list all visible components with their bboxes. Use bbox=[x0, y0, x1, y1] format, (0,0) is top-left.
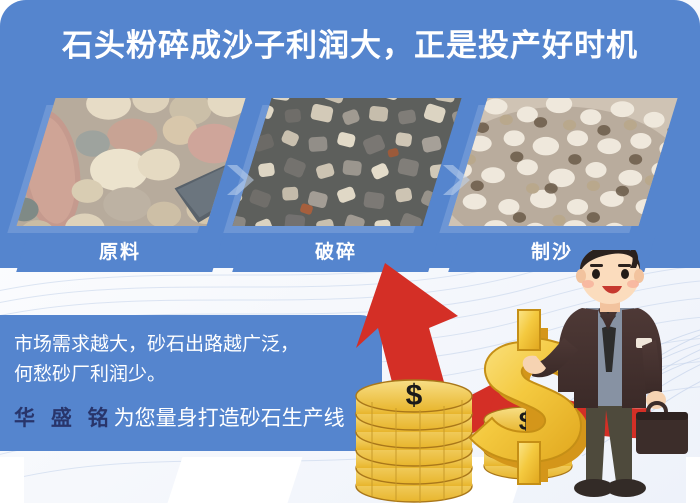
process-step-2 bbox=[252, 98, 442, 226]
copy-line-1: 市场需求越大，砂石出路越广泛， bbox=[14, 330, 394, 360]
river-pebbles-photo bbox=[16, 98, 245, 226]
banner-title: 石头粉碎成沙子利润大，正是投产好时机 bbox=[0, 24, 700, 68]
copy-block: 市场需求越大，砂石出路越广泛， 何愁砂厂利润少。 华 盛 铭为您量身打造砂石生产… bbox=[14, 330, 394, 434]
header-notch-left bbox=[0, 457, 24, 503]
chevron-right-icon bbox=[224, 163, 254, 197]
chevron-right-icon bbox=[440, 163, 470, 197]
copy-slogan: 华 盛 铭为您量身打造砂石生产线 bbox=[14, 404, 394, 434]
process-step-1 bbox=[36, 98, 226, 226]
process-step-1-label-text: 原料 bbox=[22, 234, 218, 272]
manufactured-sand-photo bbox=[448, 98, 677, 226]
copy-line-2: 何愁砂厂利润少。 bbox=[14, 360, 394, 390]
process-step-1-label: 原料 bbox=[16, 234, 224, 272]
coin-stack-icon: $ bbox=[356, 379, 472, 503]
promo-banner: 石头粉碎成沙子利润大，正是投产好时机 bbox=[0, 0, 700, 503]
illustration-group: $ $ bbox=[350, 250, 700, 503]
process-step-3 bbox=[468, 98, 658, 226]
brand-name: 华 盛 铭 bbox=[14, 407, 114, 430]
crushed-gravel-photo bbox=[232, 98, 461, 226]
slogan-rest: 为您量身打造砂石生产线 bbox=[114, 407, 345, 430]
dollar-sign-icon: $ bbox=[406, 379, 423, 412]
header-notch-mid-1 bbox=[168, 457, 303, 503]
